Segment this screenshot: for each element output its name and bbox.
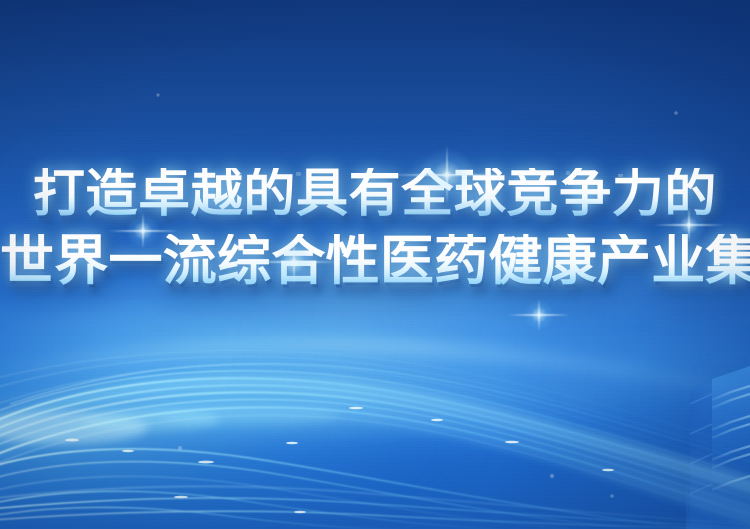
headline-block: 打造卓越的具有全球竞争力的 世界一流综合性医药健康产业集团	[0, 168, 750, 288]
headline-line-2: 世界一流综合性医药健康产业集团	[0, 234, 750, 288]
headline-line-1: 打造卓越的具有全球竞争力的	[0, 168, 750, 220]
corporate-slogan-banner: 打造卓越的具有全球竞争力的 世界一流综合性医药健康产业集团	[0, 0, 750, 529]
